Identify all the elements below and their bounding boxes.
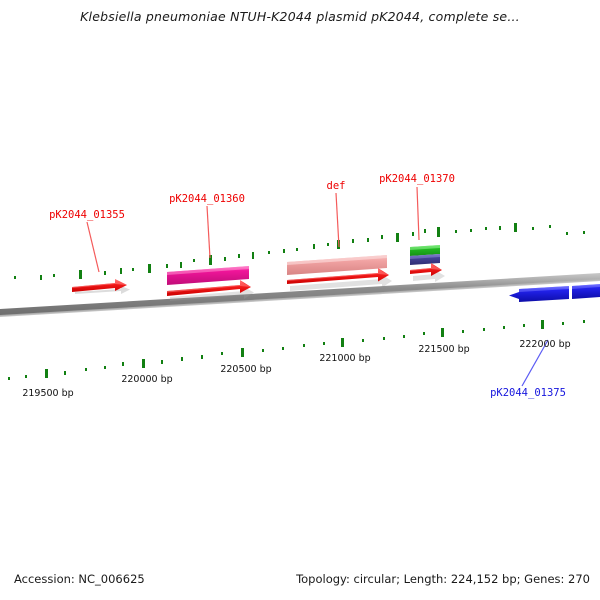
feature-glyph-cds-pk2044-01370[interactable] [410, 263, 445, 282]
sequence-track-canvas[interactable] [0, 0, 600, 600]
ruler-tick-label-221000: 221000 bp [319, 353, 370, 364]
accession-text: Accession: NC_006625 [14, 572, 145, 586]
feature-glyph-gene-pk2044-01360[interactable] [167, 266, 249, 285]
feature-label-pk2044-01360[interactable]: pK2044_01360 [169, 193, 245, 205]
ruler-tick-label-221500: 221500 bp [418, 344, 469, 355]
feature-label-pk2044-01370[interactable]: pK2044_01370 [379, 173, 455, 185]
feature-label-pk2044-01355[interactable]: pK2044_01355 [49, 209, 125, 221]
leader-line-def [336, 193, 339, 247]
genome-viewer-panel: Klebsiella pneumoniae NTUH-K2044 plasmid… [0, 0, 600, 600]
feature-glyph-pk2044-01355[interactable] [72, 279, 130, 294]
feature-glyph-cds-pk2044-01375[interactable] [509, 284, 600, 302]
feature-glyph-gene-def[interactable] [287, 255, 387, 275]
ruler-tick-label-220000: 220000 bp [121, 374, 172, 385]
ruler-tick-label-222000: 222000 bp [519, 339, 570, 350]
feature-label-pk2044-01375[interactable]: pK2044_01375 [490, 387, 566, 399]
leader-line-pk2044-01355 [87, 222, 99, 272]
sequence-summary-text: Topology: circular; Length: 224,152 bp; … [296, 572, 590, 586]
tick-row-lower [8, 320, 585, 380]
ruler-tick-label-219500: 219500 bp [22, 388, 73, 399]
feature-label-def[interactable]: def [327, 180, 346, 192]
leader-line-pk2044-01370 [417, 187, 419, 240]
ruler-tick-label-220500: 220500 bp [220, 364, 271, 375]
leader-line-pk2044-01360 [207, 206, 210, 258]
